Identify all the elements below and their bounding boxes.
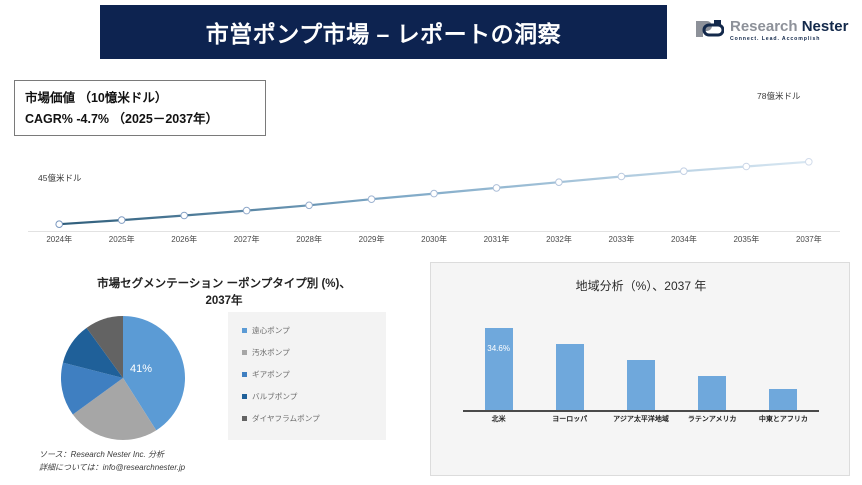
- bar-chart-tick-label: ラテンアメリカ: [677, 414, 748, 424]
- brand-logo: Research Nester Connect. Lead. Accomplis…: [694, 14, 854, 48]
- bar-column: [605, 315, 676, 410]
- bottom-section: 市場セグメンテーション ーポンプタイプ別 (%)、 2037年 41% 遠心ポン…: [0, 262, 862, 485]
- bar-chart-axis: [463, 410, 819, 412]
- bar-column: [534, 315, 605, 410]
- bar-chart-title: 地域分析（%）、2037 年: [431, 277, 851, 294]
- pie-slice-label: 41%: [130, 363, 152, 375]
- line-chart-tick-label: 2026年: [153, 234, 215, 245]
- pie-legend-item: ダイヤフラムポンプ: [242, 407, 386, 429]
- line-chart-data-point: [493, 185, 500, 192]
- line-chart-data-point: [556, 179, 563, 186]
- pie-legend-item: 遠心ポンプ: [242, 319, 386, 341]
- bar-rect: 34.6%: [485, 328, 513, 410]
- pie-legend-label: ダイヤフラムポンプ: [252, 413, 320, 424]
- title-banner: 市営ポンプ市場 – レポートの洞察: [100, 5, 667, 59]
- line-chart-data-point: [431, 190, 438, 197]
- pie-chart-plot: 41%: [55, 314, 191, 442]
- pie-title-line-2: 2037年: [54, 293, 394, 310]
- bar-rect: [769, 389, 797, 410]
- line-chart-data-point: [56, 221, 63, 228]
- pie-legend-item: ギアポンプ: [242, 363, 386, 385]
- line-chart-tick-label: 2031年: [465, 234, 527, 245]
- line-chart-x-tick-labels: 2024年2025年2026年2027年2028年2029年2030年2031年…: [28, 234, 840, 245]
- pie-legend-swatch-icon: [242, 416, 247, 421]
- logo-wordmark: Research Nester Connect. Lead. Accomplis…: [730, 19, 848, 42]
- pie-legend-label: 遠心ポンプ: [252, 325, 290, 336]
- line-chart-data-point: [743, 163, 750, 170]
- line-chart-data-point: [118, 217, 125, 224]
- market-value-label: 市場価値 （10憶米ドル）: [25, 88, 255, 109]
- line-chart-data-point: [806, 159, 813, 166]
- line-chart-data-point: [368, 196, 375, 203]
- line-chart-data-point: [181, 212, 188, 219]
- line-chart-tick-label: 2034年: [653, 234, 715, 245]
- bar-chart-tick-label: ヨーロッパ: [534, 414, 605, 424]
- line-chart-tick-label: 2035年: [715, 234, 777, 245]
- bar-rect: [556, 344, 584, 411]
- market-value-line-chart: 45億米ドル 78億米ドル 2024年2025年2026年2027年2028年2…: [0, 140, 862, 252]
- source-line-2: 詳細については：info@researchnester.jp: [39, 461, 185, 474]
- page-title: 市営ポンプ市場 – レポートの洞察: [206, 15, 561, 49]
- source-note: ソース：Research Nester Inc. 分析 詳細については：info…: [39, 448, 185, 474]
- bar-chart-tick-label: 北米: [463, 414, 534, 424]
- pie-legend-item: バルブポンプ: [242, 385, 386, 407]
- bar-chart-tick-label: アジア太平洋地域: [605, 414, 676, 424]
- bar-column: [748, 315, 819, 410]
- line-chart-start-value-label: 45億米ドル: [38, 172, 81, 184]
- bar-value-label: 34.6%: [487, 344, 510, 353]
- bar-column: [677, 315, 748, 410]
- pie-legend-swatch-icon: [242, 394, 247, 399]
- line-chart-data-point: [243, 207, 250, 214]
- line-chart-data-point: [306, 202, 313, 209]
- page-header: 市営ポンプ市場 – レポートの洞察 Research Nester Connec…: [0, 0, 862, 66]
- pie-title-line-1: 市場セグメンテーション ーポンプタイプ別 (%)、: [54, 276, 394, 293]
- line-chart-tick-label: 2037年: [778, 234, 840, 245]
- pie-chart-legend: 遠心ポンプ汚水ポンプギアポンプバルブポンプダイヤフラムポンプ: [228, 312, 386, 440]
- line-chart-tick-label: 2029年: [340, 234, 402, 245]
- pie-legend-swatch-icon: [242, 372, 247, 377]
- cagr-label: CAGR% -4.7% （2025－2037年）: [25, 109, 255, 130]
- line-chart-data-point: [681, 168, 688, 175]
- line-chart-tick-label: 2033年: [590, 234, 652, 245]
- source-line-1: ソース：Research Nester Inc. 分析: [39, 448, 185, 461]
- line-chart-data-point: [618, 173, 625, 180]
- bar-chart-plot: 34.6%: [463, 315, 819, 410]
- research-nester-logo-icon: [694, 18, 724, 44]
- pie-legend-swatch-icon: [242, 350, 247, 355]
- bar-chart-tick-label: 中東とアフリカ: [748, 414, 819, 424]
- line-chart-tick-label: 2024年: [28, 234, 90, 245]
- pie-legend-item: 汚水ポンプ: [242, 341, 386, 363]
- line-chart-tick-label: 2032年: [528, 234, 590, 245]
- line-chart-tick-label: 2027年: [215, 234, 277, 245]
- bar-rect: [627, 360, 655, 410]
- pie-legend-label: ギアポンプ: [252, 369, 290, 380]
- market-value-callout: 市場価値 （10憶米ドル） CAGR% -4.7% （2025－2037年）: [14, 80, 266, 136]
- line-chart-axis: [28, 231, 840, 232]
- bar-rect: [698, 376, 726, 410]
- pie-chart-title: 市場セグメンテーション ーポンプタイプ別 (%)、 2037年: [54, 276, 394, 310]
- logo-name: Research Nester: [730, 19, 848, 34]
- bar-chart-x-tick-labels: 北米ヨーロッパアジア太平洋地域ラテンアメリカ中東とアフリカ: [463, 414, 819, 424]
- logo-word-nester: Nester: [802, 18, 849, 35]
- pie-legend-label: バルブポンプ: [252, 391, 297, 402]
- line-chart-tick-label: 2028年: [278, 234, 340, 245]
- pie-legend-label: 汚水ポンプ: [252, 347, 290, 358]
- regional-analysis-panel: 地域分析（%）、2037 年 34.6% 北米ヨーロッパアジア太平洋地域ラテンア…: [430, 262, 850, 476]
- line-chart-tick-label: 2025年: [90, 234, 152, 245]
- line-chart-tick-label: 2030年: [403, 234, 465, 245]
- bar-column: 34.6%: [463, 315, 534, 410]
- segmentation-panel: 市場セグメンテーション ーポンプタイプ別 (%)、 2037年 41% 遠心ポン…: [14, 262, 424, 485]
- line-chart-end-value-label: 78億米ドル: [757, 90, 800, 102]
- logo-word-research: Research: [730, 18, 798, 35]
- pie-legend-swatch-icon: [242, 328, 247, 333]
- logo-tagline: Connect. Lead. Accomplish: [730, 37, 848, 42]
